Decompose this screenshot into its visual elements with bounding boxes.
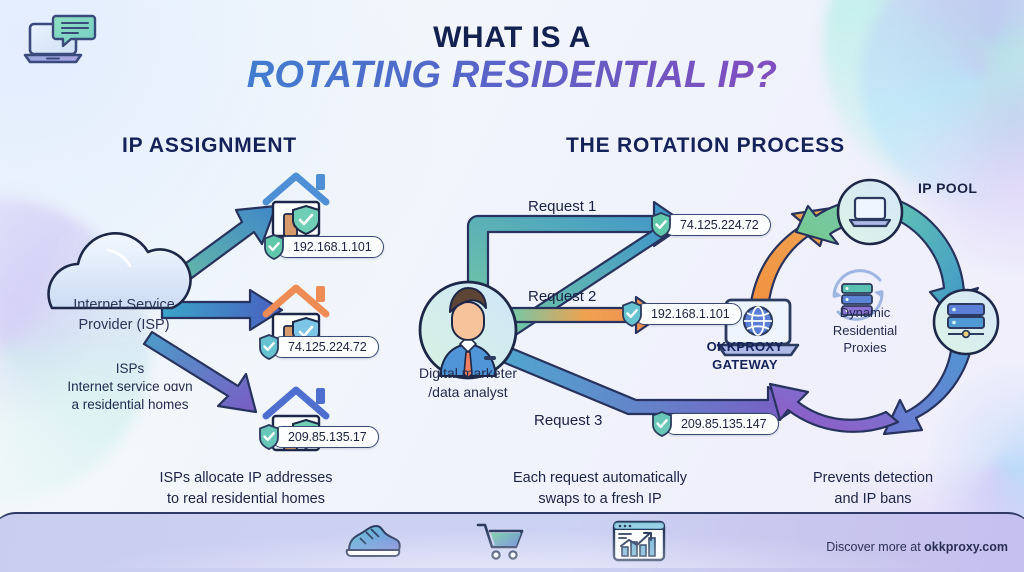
footer-domain: okkproxy.com: [924, 540, 1008, 554]
isp-note: ISPsInternet service oɑvna residential h…: [30, 360, 230, 415]
ip-address-value: 209.85.135.17: [271, 426, 379, 448]
title-line-1: WHAT IS A: [0, 22, 1024, 54]
footer-text: Discover more at okkproxy.com: [826, 540, 1008, 554]
shopping-cart-icon: [472, 520, 530, 562]
sneaker-icon: [344, 520, 402, 562]
ip-pool-label: IP POOL: [918, 180, 977, 196]
request-2-label: Request 2: [528, 288, 596, 305]
ip-address-value: 209.85.135.147: [664, 413, 779, 435]
gateway-label: OKKPROXYGATEWAY: [690, 338, 800, 373]
caption-rotation-middle: Each request automaticallyswaps to a fre…: [488, 468, 712, 509]
dynamic-residential-proxies-label: DynamicResidentialProxies: [812, 304, 918, 357]
caption-rotation-right: Prevents detectionand IP bans: [778, 468, 968, 509]
request-3-label: Request 3: [534, 412, 602, 429]
ip-address-value: 192.168.1.101: [276, 236, 384, 258]
ip-badge-home-1: 192.168.1.101: [263, 234, 384, 260]
caption-ip-assignment: ISPs allocate IP addressesto real reside…: [96, 468, 396, 509]
ip-badge-home-3: 209.85.135.17: [258, 424, 379, 450]
footer-text-prefix: Discover more at: [826, 540, 924, 554]
infographic-canvas: WHAT IS A ROTATING RESIDENTIAL IP? IP AS…: [0, 0, 1024, 572]
shield-check-icon: [650, 212, 672, 238]
ip-badge-request-1: 74.125.224.72: [650, 212, 771, 238]
ip-badge-request-2: 192.168.1.101: [621, 301, 742, 327]
ip-badge-home-2: 74.125.224.72: [258, 334, 379, 360]
ip-address-value: 74.125.224.72: [663, 214, 771, 236]
ip-address-value: 74.125.224.72: [271, 336, 379, 358]
shield-check-icon: [651, 411, 673, 437]
shield-check-icon: [258, 424, 280, 450]
ip-badge-request-3: 209.85.135.147: [651, 411, 779, 437]
isp-node-label: Internet ServiceProvider (ISP): [48, 296, 200, 335]
section-heading-rotation-process: THE ROTATION PROCESS: [566, 134, 845, 158]
footer-bar: Discover more at okkproxy.com: [0, 512, 1024, 572]
analytics-chart-icon: [610, 520, 668, 562]
shield-check-icon: [621, 301, 643, 327]
ip-address-value: 192.168.1.101: [634, 303, 742, 325]
title-line-2: ROTATING RESIDENTIAL IP?: [0, 54, 1024, 97]
section-heading-ip-assignment: IP ASSIGNMENT: [122, 134, 297, 158]
request-1-label: Request 1: [528, 198, 596, 215]
shield-check-icon: [263, 234, 285, 260]
page-title: WHAT IS A ROTATING RESIDENTIAL IP?: [0, 22, 1024, 96]
user-node-label: Digital marketer/data analyst: [398, 364, 538, 402]
shield-check-icon: [258, 334, 280, 360]
